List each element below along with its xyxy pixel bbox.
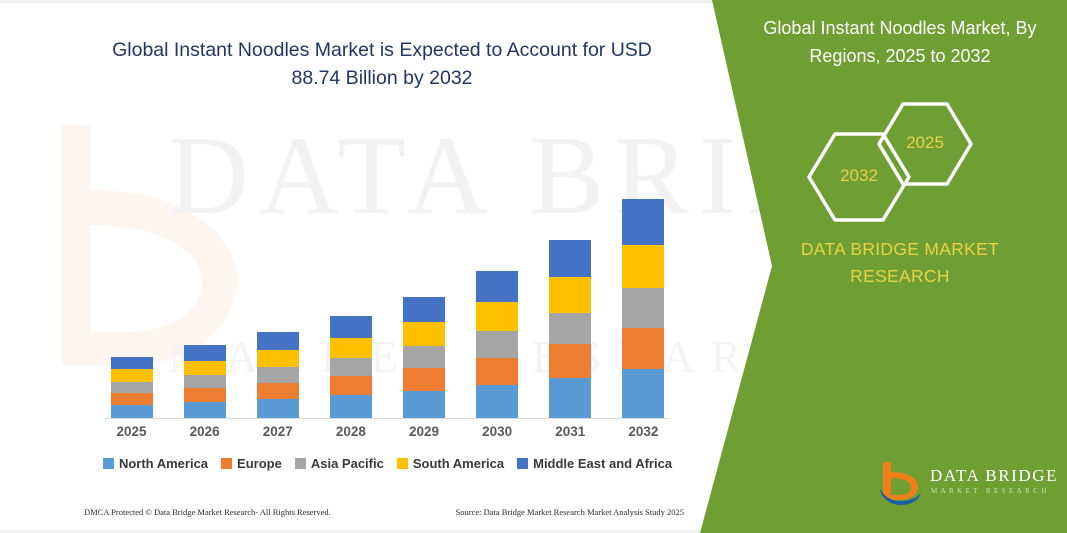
x-tick-label-2028: 2028 xyxy=(316,424,386,439)
infographic-canvas: DATA BRIDGE MARKET RESEARCH Global Insta… xyxy=(0,0,1067,533)
bar-segment-2032-north-america xyxy=(622,369,664,418)
bar-segment-2031-asia-pacific xyxy=(549,313,591,345)
x-tick-label-2030: 2030 xyxy=(462,424,532,439)
legend-label: Asia Pacific xyxy=(311,456,384,471)
x-tick-label-2031: 2031 xyxy=(535,424,605,439)
bar-segment-2026-south-america xyxy=(184,361,226,375)
x-axis-line xyxy=(105,418,670,419)
x-tick-label-2025: 2025 xyxy=(97,424,167,439)
chart-legend: North AmericaEuropeAsia PacificSouth Ame… xyxy=(95,456,680,471)
bar-segment-2026-asia-pacific xyxy=(184,375,226,388)
bar-segment-2028-asia-pacific xyxy=(330,358,372,376)
hexagon-group: 2025 2032 xyxy=(750,92,1050,202)
x-tick-label-2032: 2032 xyxy=(608,424,678,439)
bar-segment-2028-north-america xyxy=(330,395,372,418)
bar-segment-2032-asia-pacific xyxy=(622,288,664,327)
legend-swatch-icon xyxy=(221,458,232,469)
bar-segment-2025-asia-pacific xyxy=(111,382,153,393)
x-tick-label-2029: 2029 xyxy=(389,424,459,439)
bar-segment-2028-europe xyxy=(330,376,372,395)
bar-2028 xyxy=(330,316,372,418)
stacked-bar-chart xyxy=(95,120,680,420)
x-tick-label-2026: 2026 xyxy=(170,424,240,439)
bar-segment-2030-south-america xyxy=(476,302,518,331)
legend-item-europe[interactable]: Europe xyxy=(221,456,282,471)
logo-mark-icon xyxy=(878,460,924,506)
legend-swatch-icon xyxy=(397,458,408,469)
bar-2026 xyxy=(184,345,226,418)
x-tick-label-2027: 2027 xyxy=(243,424,313,439)
legend-label: North America xyxy=(119,456,208,471)
bar-segment-2029-asia-pacific xyxy=(403,346,445,368)
bar-2030 xyxy=(476,271,518,418)
panel-brand: DATA BRIDGE MARKET RESEARCH xyxy=(750,236,1050,290)
bar-2027 xyxy=(257,332,299,418)
bar-segment-2027-middle-east-and-africa xyxy=(257,332,299,350)
logo-secondary-text: MARKET RESEARCH xyxy=(931,487,1050,495)
bar-segment-2029-middle-east-and-africa xyxy=(403,297,445,322)
legend-label: Europe xyxy=(237,456,282,471)
bar-segment-2032-south-america xyxy=(622,245,664,289)
footer-right-text: Source: Data Bridge Market Research Mark… xyxy=(455,507,684,517)
bar-segment-2028-middle-east-and-africa xyxy=(330,316,372,337)
bar-segment-2031-south-america xyxy=(549,277,591,312)
bar-segment-2032-middle-east-and-africa xyxy=(622,199,664,245)
bar-segment-2026-north-america xyxy=(184,402,226,418)
footer-left-text: DMCA Protected © Data Bridge Market Rese… xyxy=(84,507,331,517)
bar-segment-2027-north-america xyxy=(257,399,299,418)
legend-item-asia-pacific[interactable]: Asia Pacific xyxy=(295,456,384,471)
legend-swatch-icon xyxy=(295,458,306,469)
legend-item-middle-east-and-africa[interactable]: Middle East and Africa xyxy=(517,456,672,471)
bar-segment-2029-south-america xyxy=(403,322,445,346)
bar-segment-2030-middle-east-and-africa xyxy=(476,271,518,302)
hexagon-2032-label: 2032 xyxy=(805,166,913,186)
chart-plot-area xyxy=(95,120,680,419)
legend-label: South America xyxy=(413,456,504,471)
footer: DMCA Protected © Data Bridge Market Rese… xyxy=(84,507,684,517)
bar-segment-2030-europe xyxy=(476,358,518,386)
panel-content: Global Instant Noodles Market, By Region… xyxy=(760,0,1067,533)
bar-segment-2027-asia-pacific xyxy=(257,367,299,383)
legend-item-north-america[interactable]: North America xyxy=(103,456,208,471)
bar-2029 xyxy=(403,297,445,418)
page-title: Global Instant Noodles Market is Expecte… xyxy=(92,36,672,92)
logo-primary-text: DATA BRIDGE xyxy=(930,466,1058,486)
bar-segment-2027-europe xyxy=(257,383,299,399)
bar-segment-2030-north-america xyxy=(476,385,518,418)
legend-item-south-america[interactable]: South America xyxy=(397,456,504,471)
bar-2031 xyxy=(549,240,591,418)
x-axis-tick-labels: 20252026202720282029203020312032 xyxy=(95,424,680,446)
bar-segment-2026-middle-east-and-africa xyxy=(184,345,226,360)
bar-segment-2027-south-america xyxy=(257,350,299,367)
bar-segment-2025-south-america xyxy=(111,369,153,381)
bar-segment-2031-middle-east-and-africa xyxy=(549,240,591,277)
hexagon-2032: 2032 xyxy=(805,130,913,224)
bar-segment-2031-europe xyxy=(549,344,591,378)
bar-segment-2030-asia-pacific xyxy=(476,331,518,357)
bar-segment-2029-north-america xyxy=(403,391,445,418)
bar-segment-2028-south-america xyxy=(330,338,372,358)
legend-swatch-icon xyxy=(103,458,114,469)
bar-segment-2029-europe xyxy=(403,368,445,391)
bar-segment-2025-north-america xyxy=(111,405,153,418)
panel-title: Global Instant Noodles Market, By Region… xyxy=(750,14,1050,70)
bar-segment-2032-europe xyxy=(622,328,664,369)
bar-2025 xyxy=(111,357,153,418)
panel-brand-line-1: DATA BRIDGE MARKET xyxy=(750,236,1050,263)
bar-segment-2025-europe xyxy=(111,393,153,405)
bar-segment-2031-north-america xyxy=(549,378,591,418)
bar-2032 xyxy=(622,199,664,418)
company-logo: DATA BRIDGE MARKET RESEARCH xyxy=(878,458,1067,510)
bar-segment-2025-middle-east-and-africa xyxy=(111,357,153,370)
panel-brand-line-2: RESEARCH xyxy=(750,263,1050,290)
bar-segment-2026-europe xyxy=(184,388,226,402)
legend-swatch-icon xyxy=(517,458,528,469)
legend-label: Middle East and Africa xyxy=(533,456,672,471)
